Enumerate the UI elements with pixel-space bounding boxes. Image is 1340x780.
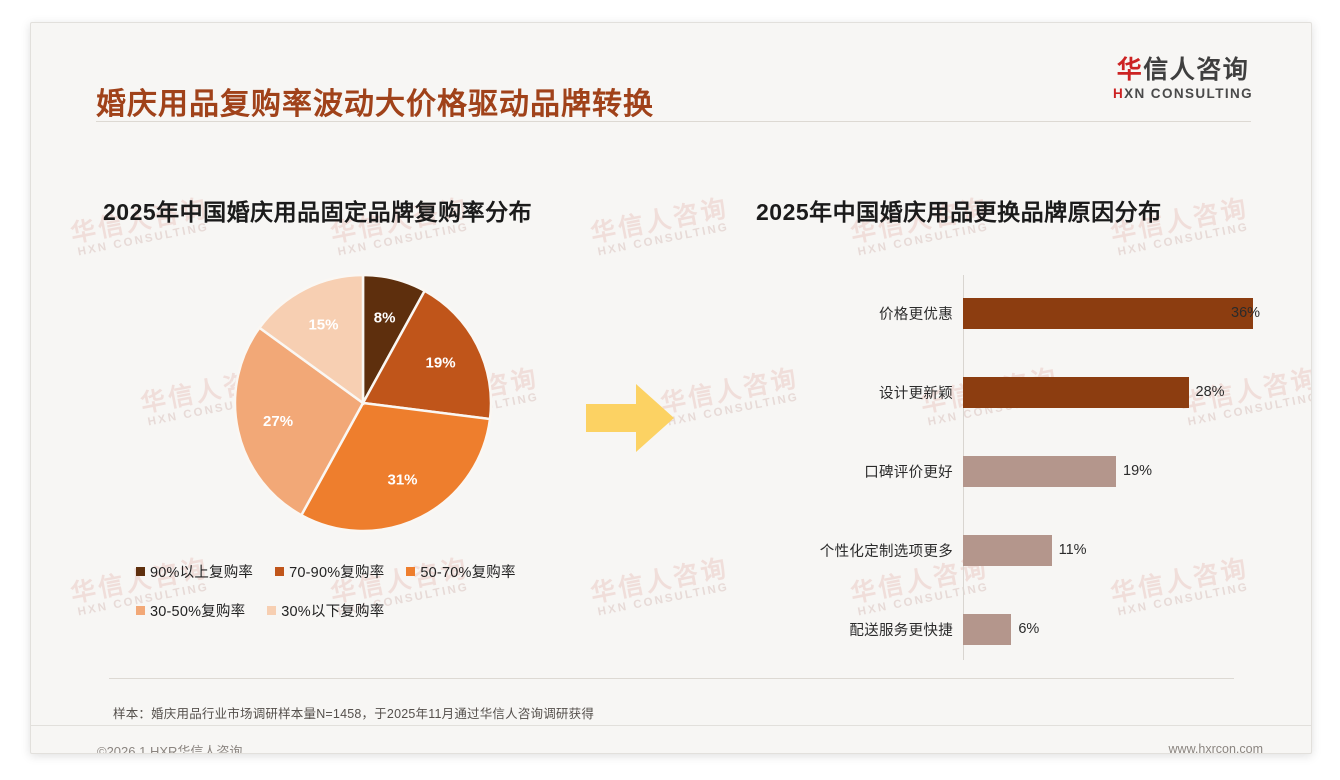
company-logo: 华信人咨询 HXN CONSULTING <box>1093 56 1273 101</box>
website-link[interactable]: www.hxrcon.com <box>1169 742 1263 754</box>
legend-label: 90%以上复购率 <box>150 561 253 582</box>
legend-item[interactable]: 70-90%复购率 <box>275 561 384 582</box>
pie-chart-legend: 90%以上复购率70-90%复购率50-70%复购率30-50%复购率30%以下… <box>136 561 606 639</box>
slide-footer: ©2026.1 HXR华信人咨询 www.hxrcon.com <box>31 726 1311 753</box>
pie-slice-label: 31% <box>387 472 417 489</box>
bar-chart: 价格更优惠36%设计更新颖28%口碑评价更好19%个性化定制选项更多11%配送服… <box>731 275 1291 665</box>
legend-swatch-icon <box>267 606 276 615</box>
legend-row: 90%以上复购率70-90%复购率50-70%复购率 <box>136 561 606 582</box>
bar-fill[interactable] <box>963 535 1052 566</box>
bar-chart-row: 口碑评价更好19% <box>731 451 1291 491</box>
bar-chart-title: 2025年中国婚庆用品更换品牌原因分布 <box>756 193 1162 227</box>
pie-slice-label: 27% <box>263 413 293 430</box>
bar-fill[interactable] <box>963 614 1011 645</box>
pie-slice-label: 15% <box>308 316 338 333</box>
bar-value-label: 28% <box>1196 384 1225 400</box>
logo-en-accent: H <box>1113 86 1124 101</box>
arrow-right-icon <box>584 378 676 463</box>
legend-label: 50-70%复购率 <box>420 561 515 582</box>
copyright-text: ©2026.1 HXR华信人咨询 <box>97 741 242 754</box>
logo-en-rest: XN CONSULTING <box>1124 86 1253 101</box>
bar-fill[interactable] <box>963 298 1253 329</box>
legend-label: 30%以下复购率 <box>281 600 384 621</box>
legend-swatch-icon <box>406 567 415 576</box>
bar-value-label: 19% <box>1123 463 1152 479</box>
bar-category-label: 口碑评价更好 <box>731 461 963 482</box>
bar-value-label: 36% <box>1231 305 1260 321</box>
logo-chinese-text: 华信人咨询 <box>1093 56 1273 84</box>
legend-swatch-icon <box>275 567 284 576</box>
bar-fill[interactable] <box>963 377 1189 408</box>
legend-item[interactable]: 30%以下复购率 <box>267 600 384 621</box>
legend-item[interactable]: 90%以上复购率 <box>136 561 253 582</box>
legend-swatch-icon <box>136 567 145 576</box>
header-divider <box>96 121 1251 122</box>
logo-cn-accent: 华 <box>1117 56 1144 84</box>
bar-category-label: 价格更优惠 <box>731 303 963 324</box>
bar-category-label: 设计更新颖 <box>731 382 963 403</box>
watermark: 华信人咨询HXN CONSULTING <box>589 555 734 620</box>
legend-item[interactable]: 30-50%复购率 <box>136 600 245 621</box>
bar-chart-row: 设计更新颖28% <box>731 372 1291 412</box>
legend-swatch-icon <box>136 606 145 615</box>
bar-fill[interactable] <box>963 456 1116 487</box>
legend-item[interactable]: 50-70%复购率 <box>406 561 515 582</box>
pie-chart-svg: 8%19%31%27%15% <box>223 263 503 543</box>
bar-chart-row: 个性化定制选项更多11% <box>731 530 1291 570</box>
footnote-divider <box>109 678 1234 679</box>
bar-chart-row: 配送服务更快捷6% <box>731 609 1291 649</box>
pie-chart: 8%19%31%27%15% <box>223 263 503 543</box>
legend-label: 30-50%复购率 <box>150 600 245 621</box>
logo-english-text: HXN CONSULTING <box>1093 86 1273 101</box>
arrow-right-icon-svg <box>584 378 676 458</box>
bar-value-label: 6% <box>1018 621 1039 637</box>
footnote-text: 样本：婚庆用品行业市场调研样本量N=1458，于2025年11月通过华信人咨询调… <box>113 703 594 722</box>
page-title: 婚庆用品复购率波动大价格驱动品牌转换 <box>96 79 654 123</box>
slide-header: 婚庆用品复购率波动大价格驱动品牌转换 华信人咨询 HXN CONSULTING <box>31 23 1311 123</box>
bar-chart-row: 价格更优惠36% <box>731 293 1291 333</box>
slide-canvas: 华信人咨询HXN CONSULTING华信人咨询HXN CONSULTING华信… <box>30 22 1312 754</box>
watermark: 华信人咨询HXN CONSULTING <box>589 195 734 260</box>
logo-cn-rest: 信人咨询 <box>1143 56 1249 84</box>
legend-row: 30-50%复购率30%以下复购率 <box>136 600 606 621</box>
pie-slice-label: 19% <box>426 354 456 371</box>
pie-slice-label: 8% <box>374 310 396 327</box>
pie-chart-title: 2025年中国婚庆用品固定品牌复购率分布 <box>103 193 532 227</box>
bar-category-label: 配送服务更快捷 <box>731 619 963 640</box>
legend-label: 70-90%复购率 <box>289 561 384 582</box>
bar-value-label: 11% <box>1059 542 1087 558</box>
bar-category-label: 个性化定制选项更多 <box>731 540 963 561</box>
